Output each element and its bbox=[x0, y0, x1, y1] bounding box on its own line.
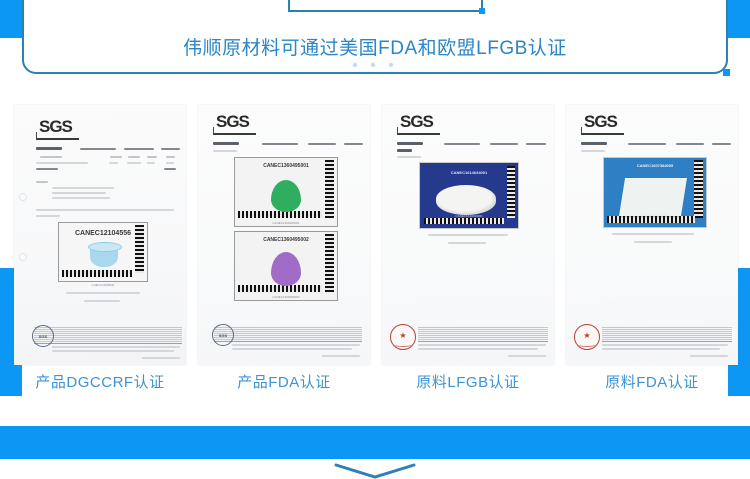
certificate-scan-image: SGS CANEC1607384005 CANEC1607384005 bbox=[566, 105, 738, 365]
sgs-logo-underline bbox=[397, 133, 440, 135]
sample-id-label: CANEC1614634001 bbox=[420, 170, 518, 175]
ruler-horizontal bbox=[607, 216, 695, 223]
end-of-report-note bbox=[84, 300, 120, 302]
footer-contact-line bbox=[52, 350, 174, 352]
certificate-card[interactable]: SGS bbox=[14, 105, 186, 397]
accreditation-star-seal: ★ bbox=[574, 324, 600, 350]
table-row bbox=[164, 168, 176, 170]
table-row bbox=[36, 168, 58, 170]
table-row bbox=[36, 162, 88, 164]
sgs-logo: SGS bbox=[584, 113, 617, 130]
report-date bbox=[490, 143, 518, 145]
page-title-box: 认证资质 bbox=[288, 0, 483, 12]
table-row bbox=[147, 162, 155, 164]
title-corner-dot bbox=[479, 8, 485, 14]
sample-photo-label bbox=[397, 156, 421, 158]
table-header-cell bbox=[40, 156, 62, 158]
certificate-card[interactable]: SGS CANEC1360495001 CANEC1360495001 bbox=[198, 105, 370, 397]
report-page bbox=[344, 143, 363, 145]
product-drop-green bbox=[271, 180, 301, 212]
decorative-dots: • • • bbox=[0, 58, 750, 74]
footer-address-band bbox=[602, 327, 732, 341]
sgs-seal: SGS bbox=[32, 325, 54, 347]
footer-contact-line bbox=[418, 348, 538, 350]
certificate-caption: 原料FDA认证 bbox=[566, 371, 738, 392]
sgs-logo-underline bbox=[36, 138, 79, 140]
table-header-cell bbox=[147, 156, 157, 158]
table-header-cell bbox=[166, 156, 175, 158]
sample-photo: CANEC1607384005 CANEC1607384005 bbox=[603, 157, 707, 228]
report-label bbox=[36, 147, 62, 150]
certificate-caption: 原料LFGB认证 bbox=[382, 371, 554, 392]
footer-disclaimer bbox=[690, 355, 728, 357]
sample-photo: CANEC1360495002 CANEC1360495002 bbox=[234, 231, 338, 301]
footer-address-band bbox=[34, 327, 182, 343]
sgs-logo-underline bbox=[213, 133, 256, 135]
photo-authenticity-note bbox=[428, 234, 508, 236]
report-sublabel bbox=[397, 149, 412, 152]
remark-line bbox=[36, 209, 174, 211]
ruler-vertical bbox=[694, 160, 703, 218]
note-line bbox=[52, 197, 110, 199]
ruler-horizontal bbox=[238, 211, 322, 218]
notes-label bbox=[36, 181, 48, 183]
ruler-horizontal bbox=[424, 218, 504, 224]
photo-authenticity-note bbox=[612, 233, 694, 235]
seal-arc bbox=[577, 342, 597, 347]
seal-arc bbox=[393, 342, 413, 347]
sgs-logo-tick bbox=[581, 127, 582, 134]
sample-id-label: CANEC12104556 bbox=[59, 230, 147, 237]
table-row bbox=[109, 162, 118, 164]
note-line bbox=[52, 192, 106, 194]
report-page bbox=[712, 143, 731, 145]
photo-authenticity-note bbox=[66, 292, 140, 294]
report-label bbox=[213, 142, 239, 145]
report-label bbox=[397, 142, 423, 145]
certificate-scan-image: SGS bbox=[14, 105, 186, 365]
sample-id-label: CANEC1360495001 bbox=[235, 163, 337, 169]
photo-caption: CANEC1360495002 bbox=[235, 295, 337, 299]
report-number bbox=[80, 148, 116, 150]
sgs-logo-tick bbox=[36, 132, 37, 139]
certificate-card[interactable]: SGS CANEC1614634001 CANEC1614634001 bbox=[382, 105, 554, 397]
end-of-report-note bbox=[448, 242, 486, 244]
footer-disclaimer bbox=[142, 357, 180, 359]
footer-address-band bbox=[214, 327, 362, 341]
sgs-logo-underline bbox=[581, 133, 624, 135]
footer-rule bbox=[214, 341, 362, 342]
photo-caption: CANEC1360495001 bbox=[235, 221, 337, 225]
certificate-scan-image: SGS CANEC1360495001 CANEC1360495001 bbox=[198, 105, 370, 365]
page-subtitle: 伟顺原材料可通过美国FDA和欧盟LFGB认证 bbox=[0, 33, 750, 60]
sample-photo: CANEC1614634001 CANEC1614634001 bbox=[419, 162, 519, 229]
footer-rule bbox=[34, 343, 182, 344]
footer-contact-line bbox=[232, 348, 352, 350]
sgs-logo-tick bbox=[213, 127, 214, 134]
footer-contact-line bbox=[602, 344, 728, 346]
sample-photo: CANEC1360495001 CANEC1360495001 bbox=[234, 157, 338, 227]
footer-rule bbox=[602, 341, 732, 342]
footer-rule bbox=[418, 341, 548, 342]
sample-photo-label bbox=[213, 150, 237, 152]
footer-accent-band bbox=[0, 426, 750, 459]
footer-address-band bbox=[418, 327, 548, 341]
product-sheet bbox=[619, 178, 687, 216]
end-of-report-note bbox=[634, 241, 672, 243]
report-number bbox=[262, 143, 298, 145]
footer-contact-line bbox=[418, 344, 546, 346]
photo-caption: CANEC1607384005 bbox=[604, 213, 706, 217]
photo-caption: CANEC12104556001 bbox=[58, 284, 148, 287]
punch-hole bbox=[19, 253, 27, 261]
sgs-logo: SGS bbox=[216, 113, 249, 130]
table-header-cell bbox=[110, 156, 122, 158]
table-header-cell bbox=[128, 156, 140, 158]
sgs-logo: SGS bbox=[39, 118, 72, 135]
sample-id-label: CANEC1607384005 bbox=[604, 163, 706, 168]
star-icon: ★ bbox=[399, 332, 406, 340]
product-bowl-rim bbox=[88, 242, 122, 252]
sgs-seal: SGS bbox=[212, 324, 234, 346]
certificate-caption: 产品DGCCRF认证 bbox=[14, 371, 186, 392]
report-label bbox=[581, 142, 607, 145]
table-row bbox=[127, 162, 141, 164]
footer-contact-line bbox=[602, 348, 720, 350]
sgs-logo-tick bbox=[397, 127, 398, 134]
footer-disclaimer bbox=[508, 355, 546, 357]
report-number bbox=[444, 143, 480, 145]
product-drop-purple bbox=[271, 252, 301, 286]
scroll-down-chevron[interactable] bbox=[0, 462, 750, 479]
report-page bbox=[161, 148, 180, 150]
sample-id-label: CANEC1360495002 bbox=[235, 237, 337, 243]
accreditation-star-seal: ★ bbox=[390, 324, 416, 350]
ruler-horizontal bbox=[238, 285, 322, 292]
report-number bbox=[628, 143, 666, 145]
footer-contact-line bbox=[232, 344, 360, 346]
report-date bbox=[124, 148, 154, 150]
sgs-logo: SGS bbox=[400, 113, 433, 130]
certificate-card[interactable]: SGS CANEC1607384005 CANEC1607384005 bbox=[566, 105, 738, 397]
star-icon: ★ bbox=[583, 332, 590, 340]
certificate-scan-image: SGS CANEC1614634001 CANEC1614634001 bbox=[382, 105, 554, 365]
note-line bbox=[52, 187, 114, 189]
report-date bbox=[308, 143, 336, 145]
certificate-gallery: SGS bbox=[0, 105, 750, 397]
certificate-caption: 产品FDA认证 bbox=[198, 371, 370, 392]
page-root: 认证资质 伟顺原材料可通过美国FDA和欧盟LFGB认证 • • • SGS bbox=[0, 0, 750, 479]
sample-photo-label bbox=[36, 215, 60, 217]
product-pebble bbox=[436, 185, 496, 215]
ruler-horizontal bbox=[62, 270, 132, 277]
footer-contact-line bbox=[52, 346, 180, 348]
table-row bbox=[166, 162, 174, 164]
report-date bbox=[676, 143, 704, 145]
punch-hole bbox=[19, 193, 27, 201]
footer-disclaimer bbox=[322, 355, 360, 357]
sample-photo-label bbox=[581, 150, 605, 152]
photo-caption: CANEC1614634001 bbox=[420, 214, 518, 218]
sample-photo: CANEC12104556 bbox=[58, 222, 148, 282]
report-page bbox=[526, 143, 546, 145]
chevron-down-icon bbox=[332, 462, 418, 479]
